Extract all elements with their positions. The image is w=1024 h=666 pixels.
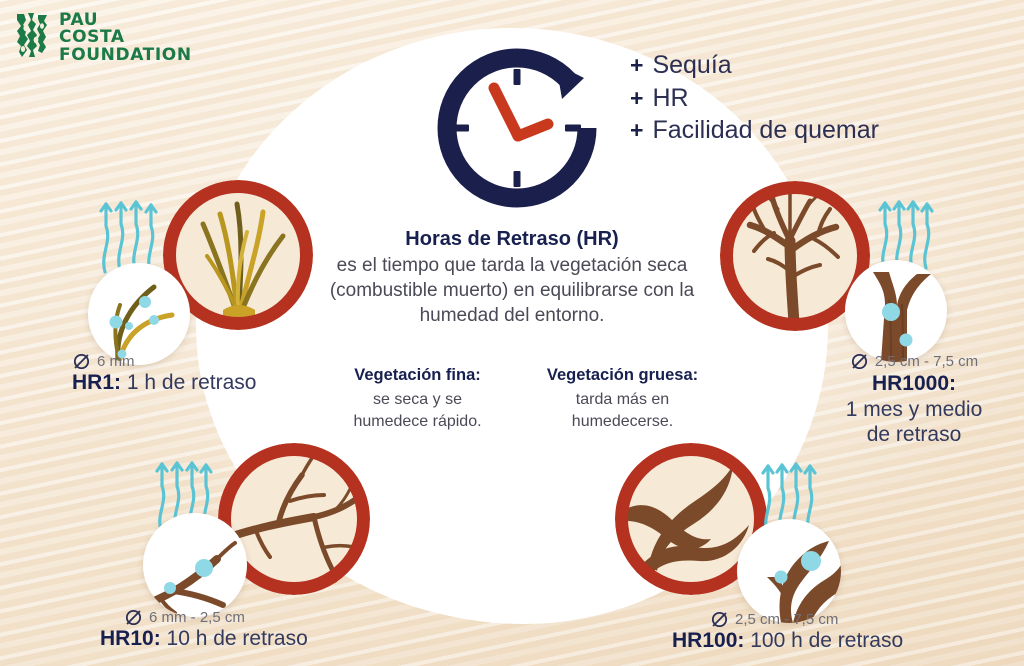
hr100-label: 2,5 cm - 7,5 cm HR100: 100 h de retraso [672,610,903,653]
column-heading: Vegetación fina: [330,366,505,385]
definition-line-1: es el tiempo que tarda la vegetación sec… [288,253,736,278]
logo-line-3: FOUNDATION [59,47,192,64]
hr1-diameter-value: 6 mm [97,353,135,370]
hr100-delay: HR100: 100 h de retraso [672,629,903,653]
hr1-detail-circle [88,263,190,365]
definition-line-2: (combustible muerto) en equilibrarse con… [288,278,736,303]
hr1-label: 6 mm HR1: 1 h de retraso [72,352,256,395]
hr1-delay-value: 1 h de retraso [127,371,257,394]
hr1000-delay-line-2: de retraso [867,423,962,446]
hr1-code: HR1: [72,371,121,394]
column-line-1: tarda más en [535,389,710,411]
diameter-icon [710,610,729,629]
evaporation-arrows-icon [876,196,934,270]
hr10-delay-value: 10 h de retraso [167,627,308,650]
logo: PAU COSTA FOUNDATION [14,12,192,64]
hr100-diameter: 2,5 cm - 7,5 cm [672,610,903,629]
hr10-code: HR10: [100,627,161,650]
hr1-delay: HR1: 1 h de retraso [72,371,256,395]
effects-list-item: + Sequía [630,52,879,80]
hr100-diameter-value: 2,5 cm - 7,5 cm [735,611,838,628]
infographic-canvas: PAU COSTA FOUNDATION + Sequía + HR + Fac… [0,0,1024,666]
hr1000-delay-line-1: 1 mes y medio [846,398,983,421]
hr100-delay-value: 100 h de retraso [750,629,903,652]
effects-item-label: Sequía [652,52,731,80]
diameter-icon [850,352,869,371]
column-line-2: humedece rápido. [330,411,505,433]
effects-item-label: Facilidad de quemar [652,117,879,145]
diameter-icon [72,352,91,371]
hr10-label: 6 mm - 2,5 cm HR10: 10 h de retraso [100,608,308,651]
hr1000-delay: HR1000: 1 mes y medio de retraso [826,371,1002,448]
column-heading: Vegetación gruesa: [535,366,710,385]
plus-icon: + [630,119,643,142]
hr1000-label: 2,5 cm - 7,5 cm HR1000: 1 mes y medio de… [826,352,1002,448]
hr10-delay: HR10: 10 h de retraso [100,627,308,651]
diameter-icon [124,608,143,627]
comparison-columns: Vegetación fina: se seca y se humedece r… [330,366,710,432]
logo-mark-icon [14,12,52,64]
column-line-1: se seca y se [330,389,505,411]
hr1000-diameter: 2,5 cm - 7,5 cm [826,352,1002,371]
hr1000-code: HR1000: [826,371,1002,397]
hr10-diameter: 6 mm - 2,5 cm [100,608,308,627]
effects-item-label: HR [652,85,688,113]
hr1000-diameter-value: 2,5 cm - 7,5 cm [875,353,978,370]
trunk-detail-illustration [845,260,947,362]
hr10-diameter-value: 6 mm - 2,5 cm [149,609,245,626]
effects-list-item: + Facilidad de quemar [630,117,879,145]
clock-arrow-icon [428,44,606,212]
effects-list: + Sequía + HR + Facilidad de quemar [630,52,879,150]
branch-detail-illustration [737,519,841,623]
column-coarse-vegetation: Vegetación gruesa: tarda más en humedece… [535,366,710,432]
hr10-detail-circle [143,513,247,617]
hr1-diameter: 6 mm [72,352,256,371]
hr100-code: HR100: [672,629,744,652]
hr1000-detail-circle [845,260,947,362]
column-line-2: humedecerse. [535,411,710,433]
definition-line-3: humedad del entorno. [288,303,736,328]
column-fine-vegetation: Vegetación fina: se seca y se humedece r… [330,366,505,432]
definition-heading: Horas de Retraso (HR) [288,228,736,251]
hr100-detail-circle [737,519,841,623]
plus-icon: + [630,87,643,110]
definition-block: Horas de Retraso (HR) es el tiempo que t… [288,228,736,328]
grass-detail-illustration [88,263,190,365]
effects-list-item: + HR [630,85,879,113]
plus-icon: + [630,54,643,77]
twig-detail-illustration [143,513,247,617]
